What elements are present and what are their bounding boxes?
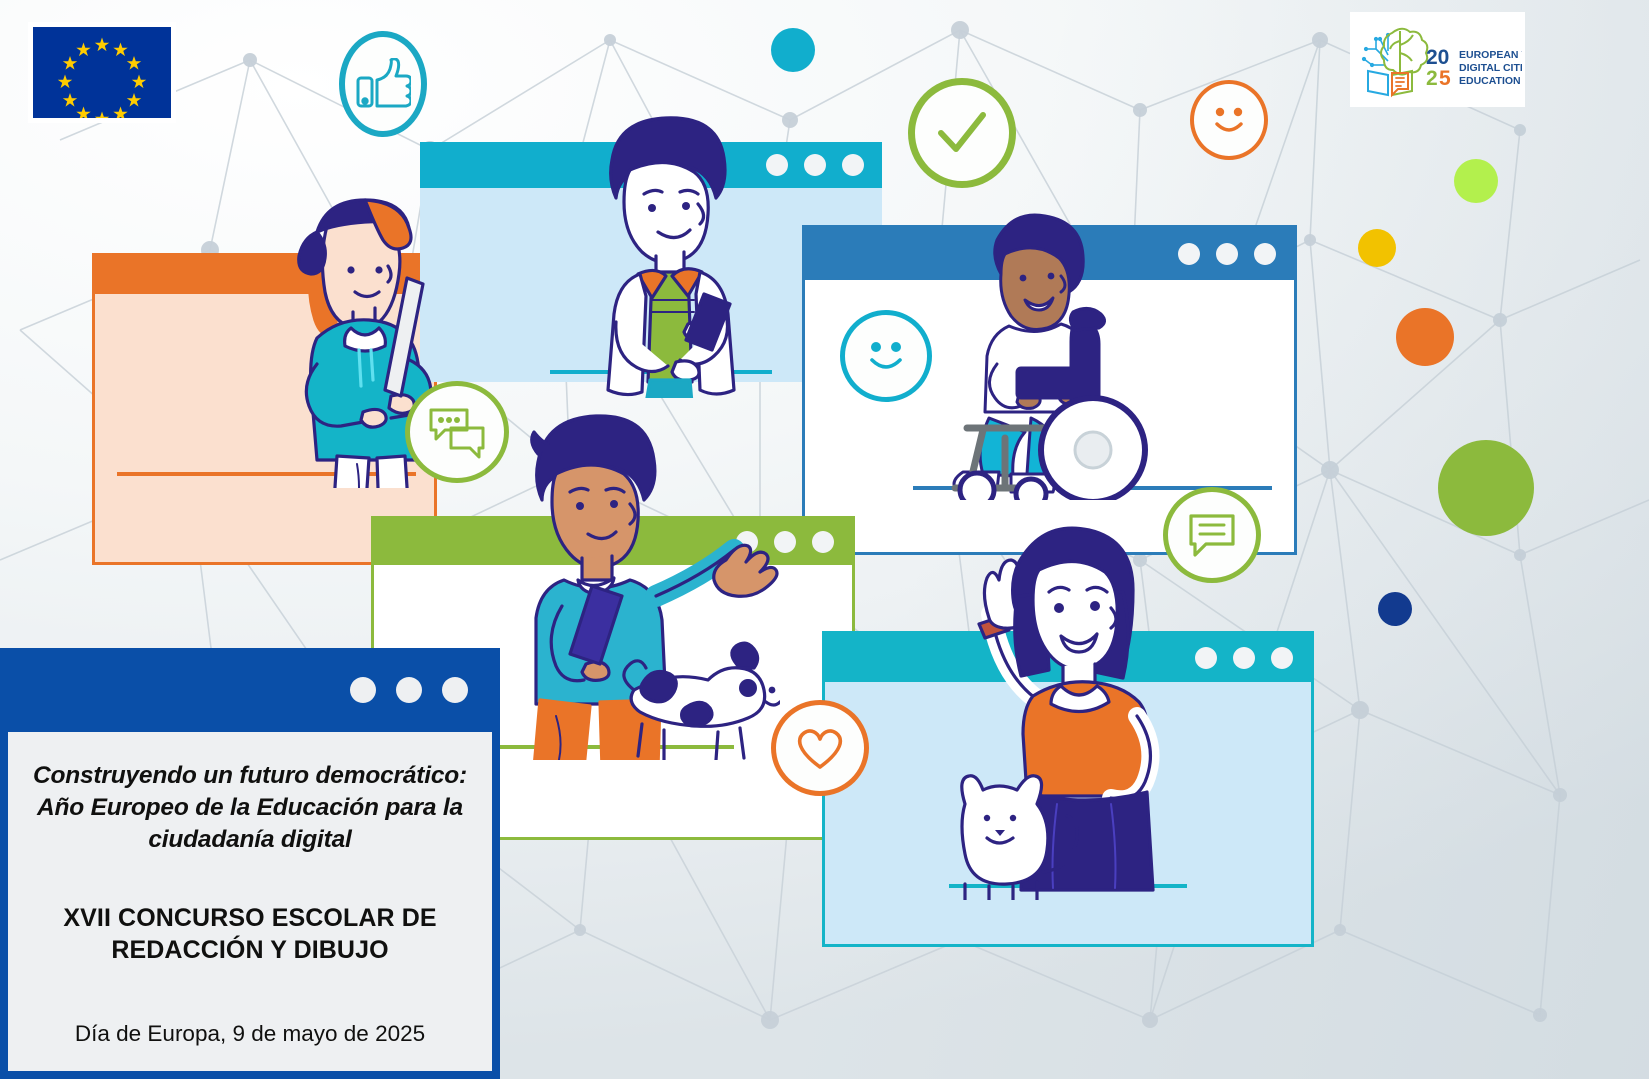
badge-chat-green — [405, 381, 509, 483]
dot-orange — [1396, 308, 1454, 366]
window-dot[interactable] — [812, 531, 834, 553]
card-title-bar[interactable] — [8, 648, 492, 732]
dot-navy — [1378, 592, 1412, 626]
window-dot[interactable] — [804, 154, 826, 176]
badge-smiley-orange — [1190, 80, 1268, 160]
window-dot[interactable] — [350, 677, 376, 703]
badge-thumbs-up — [339, 31, 427, 137]
card-panel: Construyendo un futuro democrático: Año … — [8, 732, 492, 1071]
check-icon — [933, 107, 991, 159]
illustration-girl-cat — [915, 500, 1185, 900]
eu-flag — [28, 22, 176, 123]
logo-year-bottom-5: 5 — [1439, 67, 1451, 90]
illustration-boy-dog — [500, 400, 780, 760]
illustration-boy-phone — [560, 108, 770, 398]
badge-check — [908, 78, 1016, 188]
eu-flag-field — [33, 27, 171, 118]
heart-icon — [792, 723, 848, 773]
window-dot[interactable] — [1254, 243, 1276, 265]
chat-bubbles-icon — [426, 404, 488, 460]
window-dot[interactable] — [1271, 647, 1293, 669]
logo-year-top: 20 — [1426, 46, 1449, 69]
eu-stars-icon — [33, 27, 171, 118]
window-dot[interactable] — [1178, 243, 1200, 265]
message-icon — [1185, 510, 1239, 560]
dot-cyan — [771, 28, 815, 72]
dot-olive-green — [1438, 440, 1534, 536]
announcement-card: Construyendo un futuro democrático: Año … — [0, 648, 500, 1079]
badge-heart — [771, 700, 869, 796]
smiley-icon — [1205, 99, 1253, 141]
card-date: Día de Europa, 9 de mayo de 2025 — [32, 1019, 468, 1048]
window-dot[interactable] — [442, 677, 468, 703]
logo-line-3: EDUCATION — [1459, 75, 1521, 87]
thumbs-up-icon — [355, 58, 411, 110]
window-dot[interactable] — [1195, 647, 1217, 669]
smiley-icon — [859, 332, 913, 380]
window-dot[interactable] — [396, 677, 422, 703]
window-dot[interactable] — [1233, 647, 1255, 669]
card-subtitle: XVII CONCURSO ESCOLAR DE REDACCIÓN Y DIB… — [32, 902, 468, 967]
illustration-wheelchair-user — [905, 200, 1170, 500]
badge-smiley-cyan — [840, 310, 932, 402]
window-dot[interactable] — [842, 154, 864, 176]
logo-line-1: EUROPEAN YEAR OF — [1459, 49, 1522, 61]
logo-year-bottom-2: 2 — [1426, 67, 1438, 90]
eydce-logo-graphic: 20 2 5 EUROPEAN YEAR OF DIGITAL CITIZENS… — [1354, 21, 1522, 99]
card-title: Construyendo un futuro democrático: Año … — [32, 760, 468, 856]
logo-line-2: DIGITAL CITIZENSHIP — [1459, 62, 1522, 74]
eydce-logo: 20 2 5 EUROPEAN YEAR OF DIGITAL CITIZENS… — [1350, 12, 1525, 107]
dot-light-green — [1454, 159, 1498, 203]
poster-canvas: 20 2 5 EUROPEAN YEAR OF DIGITAL CITIZENS… — [0, 0, 1649, 1079]
badge-message — [1163, 487, 1261, 583]
window-dot[interactable] — [1216, 243, 1238, 265]
dot-yellow — [1358, 229, 1396, 267]
